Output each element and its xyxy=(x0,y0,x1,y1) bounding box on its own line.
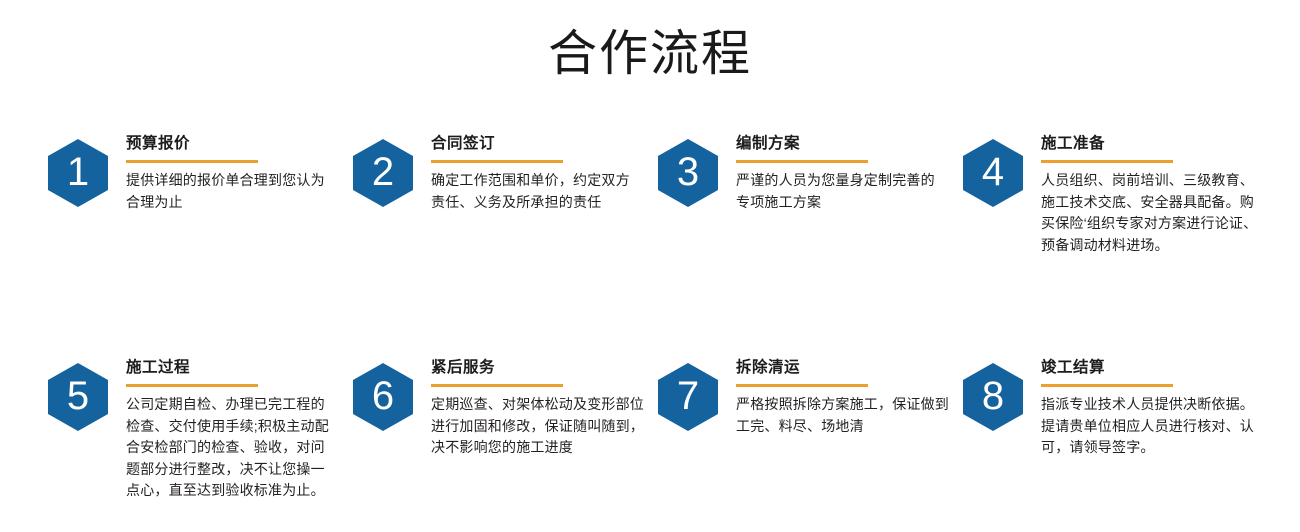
step-title-4: 施工准备 xyxy=(1041,134,1263,154)
step-number-badge-7: 7 xyxy=(658,363,718,431)
step-underline-rule xyxy=(736,384,868,387)
infographic-page: 合作流程 1 预算报价 提供详细的报价单合理到您认为合理为止 2 xyxy=(0,0,1300,532)
step-number-badge-8: 8 xyxy=(963,363,1023,431)
step-title-8: 竣工结算 xyxy=(1041,358,1263,378)
step-number-5: 5 xyxy=(67,376,89,418)
step-number-3: 3 xyxy=(677,152,699,194)
step-title-6: 紧后服务 xyxy=(431,358,653,378)
step-description-8: 指派专业技术人员提供决断依据。提请贵单位相应人员进行核对、认可，请领导签字。 xyxy=(1041,394,1263,459)
page-title: 合作流程 xyxy=(0,22,1300,86)
step-number-badge-2: 2 xyxy=(353,139,413,207)
hexagon-icon: 5 xyxy=(48,363,108,431)
step-text-block-1: 预算报价 提供详细的报价单合理到您认为合理为止 xyxy=(126,134,338,213)
step-title-7: 拆除清运 xyxy=(736,358,958,378)
step-number-6: 6 xyxy=(372,376,394,418)
process-step-1: 1 预算报价 提供详细的报价单合理到您认为合理为止 xyxy=(48,134,353,314)
hexagon-icon: 6 xyxy=(353,363,413,431)
step-description-5: 公司定期自检、办理已完工程的检查、交付使用手续;积极主动配合安检部门的检查、验收… xyxy=(126,394,338,502)
step-text-block-7: 拆除清运 严格按照拆除方案施工，保证做到工完、料尽、场地清 xyxy=(736,358,958,437)
step-description-6: 定期巡查、对架体松动及变形部位进行加固和修改，保证随叫随到，决不影响您的施工进度 xyxy=(431,394,653,459)
step-number-badge-3: 3 xyxy=(658,139,718,207)
step-number-8: 8 xyxy=(982,376,1004,418)
process-step-5: 5 施工过程 公司定期自检、办理已完工程的检查、交付使用手续;积极主动配合安检部… xyxy=(48,314,353,502)
step-description-7: 严格按照拆除方案施工，保证做到工完、料尽、场地清 xyxy=(736,394,958,437)
step-number-badge-1: 1 xyxy=(48,139,108,207)
step-text-block-4: 施工准备 人员组织、岗前培训、三级教育、施工技术交底、安全器具配备。购买保险‘组… xyxy=(1041,134,1263,256)
step-underline-rule xyxy=(431,384,563,387)
process-steps-grid: 1 预算报价 提供详细的报价单合理到您认为合理为止 2 合同签订 确定工作范围和… xyxy=(0,134,1300,502)
step-text-block-5: 施工过程 公司定期自检、办理已完工程的检查、交付使用手续;积极主动配合安检部门的… xyxy=(126,358,338,502)
hexagon-icon: 1 xyxy=(48,139,108,207)
process-step-4: 4 施工准备 人员组织、岗前培训、三级教育、施工技术交底、安全器具配备。购买保险… xyxy=(963,134,1293,314)
step-number-badge-6: 6 xyxy=(353,363,413,431)
process-step-2: 2 合同签订 确定工作范围和单价，约定双方责任、义务及所承担的责任 xyxy=(353,134,658,314)
step-number-badge-4: 4 xyxy=(963,139,1023,207)
step-underline-rule xyxy=(736,160,868,163)
step-text-block-6: 紧后服务 定期巡查、对架体松动及变形部位进行加固和修改，保证随叫随到，决不影响您… xyxy=(431,358,653,459)
step-description-1: 提供详细的报价单合理到您认为合理为止 xyxy=(126,170,338,213)
step-underline-rule xyxy=(126,384,258,387)
step-number-2: 2 xyxy=(372,152,394,194)
hexagon-icon: 2 xyxy=(353,139,413,207)
step-description-4: 人员组织、岗前培训、三级教育、施工技术交底、安全器具配备。购买保险‘组织专家对方… xyxy=(1041,170,1263,256)
hexagon-icon: 4 xyxy=(963,139,1023,207)
step-number-4: 4 xyxy=(982,152,1004,194)
step-number-1: 1 xyxy=(67,152,89,194)
step-text-block-3: 编制方案 严谨的人员为您量身定制完善的专项施工方案 xyxy=(736,134,948,213)
step-title-2: 合同签订 xyxy=(431,134,643,154)
process-step-8: 8 竣工结算 指派专业技术人员提供决断依据。提请贵单位相应人员进行核对、认可，请… xyxy=(963,314,1293,502)
step-text-block-2: 合同签订 确定工作范围和单价，约定双方责任、义务及所承担的责任 xyxy=(431,134,643,213)
process-step-3: 3 编制方案 严谨的人员为您量身定制完善的专项施工方案 xyxy=(658,134,963,314)
step-title-1: 预算报价 xyxy=(126,134,338,154)
process-step-7: 7 拆除清运 严格按照拆除方案施工，保证做到工完、料尽、场地清 xyxy=(658,314,963,502)
step-text-block-8: 竣工结算 指派专业技术人员提供决断依据。提请贵单位相应人员进行核对、认可，请领导… xyxy=(1041,358,1263,459)
step-title-5: 施工过程 xyxy=(126,358,338,378)
hexagon-icon: 8 xyxy=(963,363,1023,431)
step-number-7: 7 xyxy=(677,376,699,418)
step-underline-rule xyxy=(431,160,563,163)
step-description-2: 确定工作范围和单价，约定双方责任、义务及所承担的责任 xyxy=(431,170,643,213)
step-title-3: 编制方案 xyxy=(736,134,948,154)
step-underline-rule xyxy=(126,160,258,163)
hexagon-icon: 7 xyxy=(658,363,718,431)
step-number-badge-5: 5 xyxy=(48,363,108,431)
hexagon-icon: 3 xyxy=(658,139,718,207)
step-description-3: 严谨的人员为您量身定制完善的专项施工方案 xyxy=(736,170,948,213)
process-step-6: 6 紧后服务 定期巡查、对架体松动及变形部位进行加固和修改，保证随叫随到，决不影… xyxy=(353,314,658,502)
step-underline-rule xyxy=(1041,160,1173,163)
step-underline-rule xyxy=(1041,384,1173,387)
